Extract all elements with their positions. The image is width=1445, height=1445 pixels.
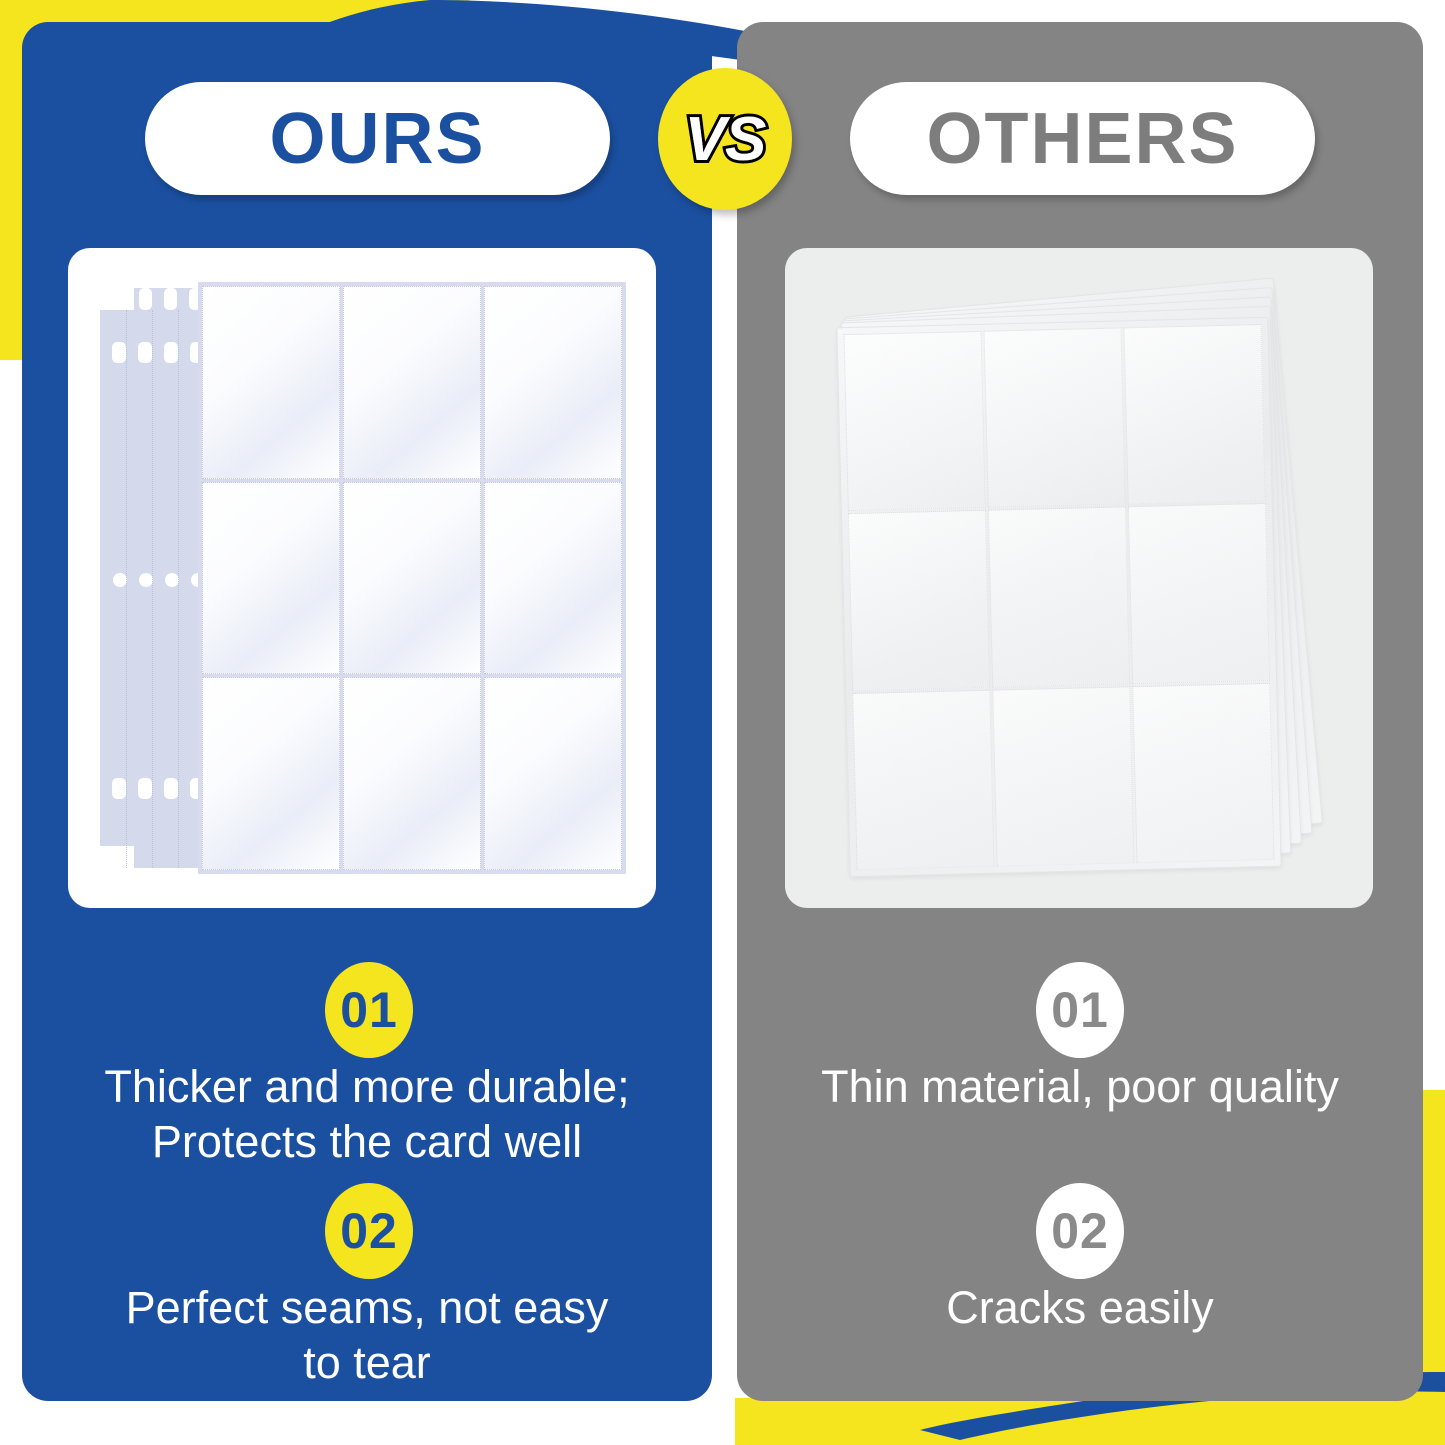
- card-pocket: [202, 286, 340, 479]
- card-pocket: [202, 677, 340, 870]
- header-pill-ours: OURS: [145, 82, 610, 195]
- sleeve-pocket: [1132, 683, 1274, 864]
- sleeve-pocket: [848, 510, 990, 691]
- feature-badge-ours-02: 02: [325, 1183, 413, 1279]
- spine-hole: [138, 342, 152, 363]
- feature-line: Thicker and more durable; Protects the c…: [52, 1060, 682, 1170]
- feature-number: 02: [1051, 1202, 1109, 1260]
- feature-number: 02: [340, 1202, 398, 1260]
- spine-hole: [164, 288, 177, 310]
- sleeve-pocket: [988, 507, 1130, 688]
- spine-hole: [112, 342, 126, 363]
- product-image-card-others: [785, 248, 1373, 908]
- feature-line: Perfect seams, not easy to tear: [52, 1281, 682, 1391]
- header-label-ours: OURS: [269, 103, 485, 175]
- feature-text-ours-02: Perfect seams, not easy to tear: [52, 1281, 682, 1391]
- card-pocket: [484, 482, 622, 675]
- spine-hole: [139, 288, 152, 310]
- feature-badge-others-02: 02: [1036, 1183, 1124, 1279]
- feature-number: 01: [1051, 981, 1109, 1039]
- feature-number: 01: [340, 981, 398, 1039]
- sleeve-pocket: [983, 327, 1125, 508]
- sleeve-pocket: [1128, 503, 1270, 684]
- feature-text-ours-01: Thicker and more durable; Protects the c…: [52, 1060, 682, 1170]
- card-pocket: [484, 286, 622, 479]
- binder-page-illustration: [94, 274, 630, 882]
- spine-hole: [164, 778, 178, 799]
- spine-hole: [164, 342, 178, 363]
- feature-text-others-02: Cracks easily: [760, 1281, 1400, 1336]
- spine-hole: [165, 573, 179, 587]
- header-pill-others: OTHERS: [850, 82, 1315, 195]
- spine-hole: [138, 778, 152, 799]
- header-label-others: OTHERS: [926, 103, 1238, 175]
- feature-badge-ours-01: 01: [325, 962, 413, 1058]
- vs-badge: VS VS: [658, 68, 792, 210]
- card-pocket: [343, 677, 481, 870]
- feature-line: Cracks easily: [760, 1281, 1400, 1336]
- comparison-infographic: OURS: [0, 0, 1445, 1445]
- sleeve-pocket: [844, 331, 986, 512]
- card-pocket: [202, 482, 340, 675]
- sleeve-pocket: [1123, 324, 1265, 505]
- card-pocket: [484, 677, 622, 870]
- feature-badge-others-01: 01: [1036, 962, 1124, 1058]
- card-pocket-grid: [198, 282, 626, 874]
- sleeve-pocket: [992, 686, 1134, 867]
- feature-text-others-01: Thin material, poor quality: [760, 1060, 1400, 1115]
- card-pocket: [343, 286, 481, 479]
- sleeve-pocket: [852, 689, 994, 870]
- sleeve-stack-illustration: [825, 272, 1333, 884]
- spine-hole: [112, 778, 126, 799]
- product-image-card-ours: [68, 248, 656, 908]
- feature-line: Thin material, poor quality: [760, 1060, 1400, 1115]
- spine-hole: [113, 573, 127, 587]
- card-pocket: [343, 482, 481, 675]
- sleeve-sheet-top: [836, 317, 1281, 877]
- vs-label: VS: [658, 68, 792, 210]
- spine-hole: [139, 573, 153, 587]
